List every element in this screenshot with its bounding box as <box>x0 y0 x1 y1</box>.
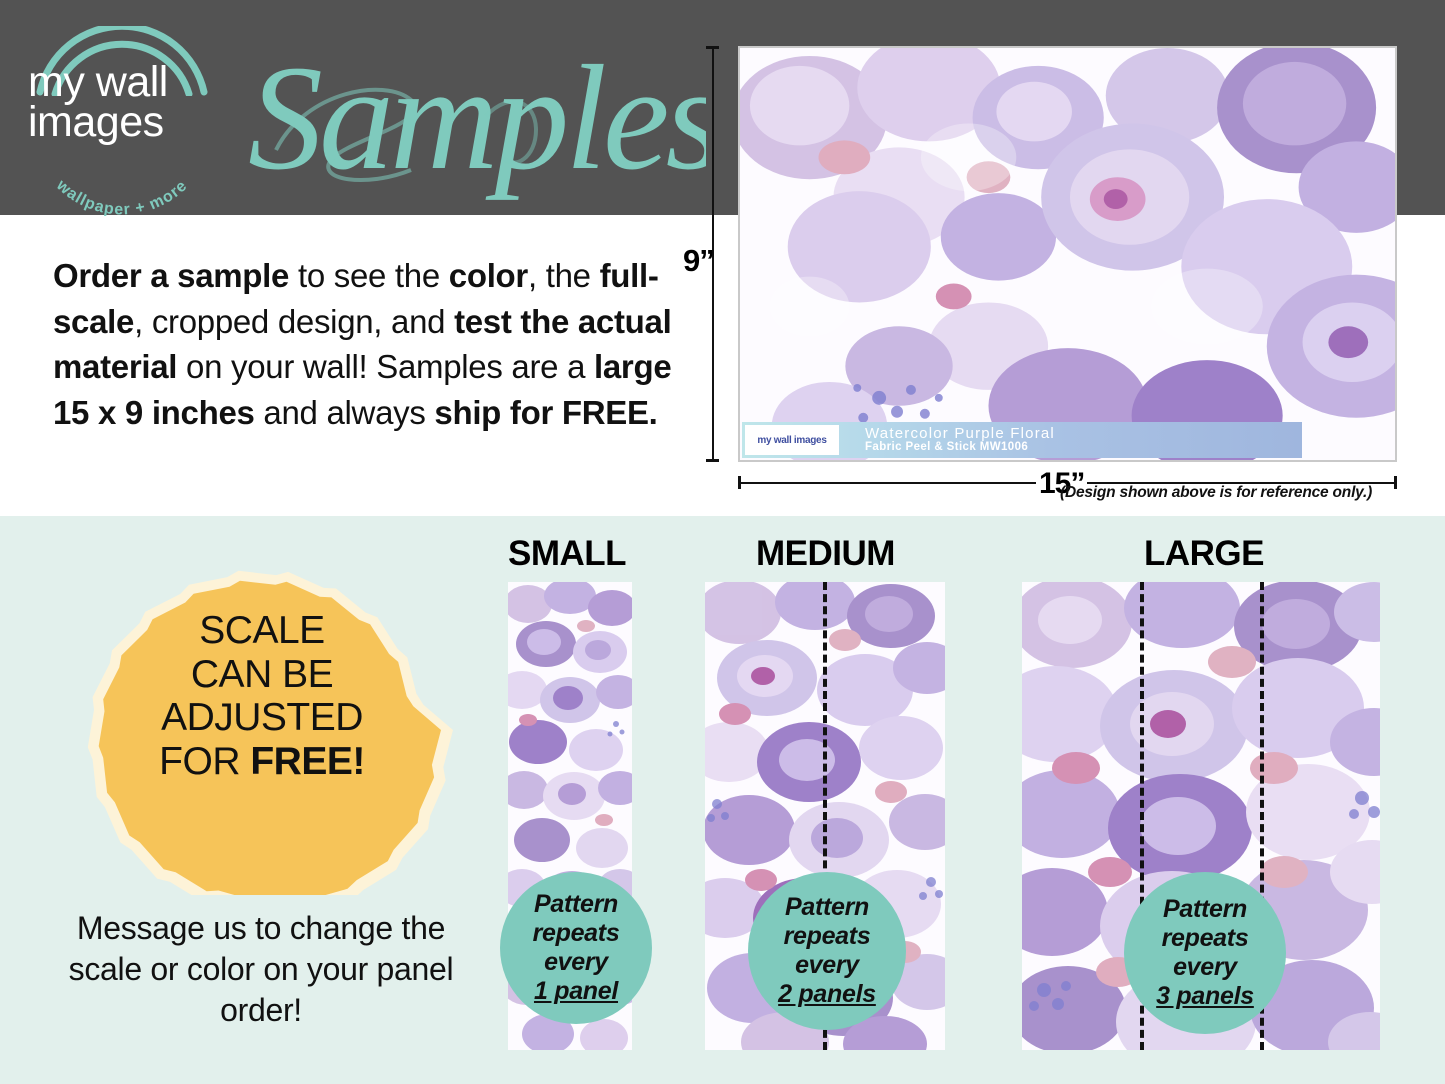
brand-line-2: images <box>28 102 218 142</box>
brand-name: my wall images <box>28 62 218 142</box>
design-name: Watercolor Purple Floral <box>865 426 1302 442</box>
scale-free-badge: SCALECAN BEADJUSTEDFOR FREE! <box>66 565 458 895</box>
scale-title-large: LARGE <box>1144 534 1264 574</box>
label-text-block: Watercolor Purple Floral Fabric Peel & S… <box>839 422 1302 458</box>
repeat-circle-medium: Patternrepeatsevery2 panels <box>748 872 906 1030</box>
height-dimension-label: 9” <box>683 243 714 279</box>
scale-title-medium: MEDIUM <box>756 534 895 574</box>
svg-text:wallpaper + more: wallpaper + more <box>52 176 191 216</box>
design-material-sku: Fabric Peel & Stick MW1006 <box>865 441 1302 454</box>
brand-tagline: wallpaper + more <box>22 146 222 216</box>
sample-design-label: my wall images Watercolor Purple Floral … <box>742 422 1302 458</box>
change-scale-message: Message us to change the scale or color … <box>46 908 476 1031</box>
script-text: Samples <box>248 35 706 201</box>
scale-title-small: SMALL <box>508 534 626 574</box>
label-brand-text: my wall images <box>757 435 826 446</box>
reference-note: (Design shown above is for reference onl… <box>1060 484 1372 502</box>
repeat-circle-text-medium: Patternrepeatsevery2 panels <box>778 893 876 1009</box>
sample-preview-image: my wall images Watercolor Purple Floral … <box>738 46 1397 462</box>
poster-root: my wall images wallpaper + more Samples … <box>0 0 1445 1084</box>
repeat-circle-small: Patternrepeatsevery1 panel <box>500 872 652 1024</box>
sample-description-copy: Order a sample to see the color, the ful… <box>53 253 673 435</box>
repeat-circle-text-large: Patternrepeatsevery3 panels <box>1156 895 1254 1011</box>
badge-text: SCALECAN BEADJUSTEDFOR FREE! <box>66 609 458 784</box>
repeat-circle-large: Patternrepeatsevery3 panels <box>1124 872 1286 1034</box>
brand-logo: my wall images wallpaper + more <box>22 26 222 206</box>
label-brand-logo: my wall images <box>745 425 839 455</box>
samples-script-title: Samples <box>236 30 706 205</box>
repeat-circle-text-small: Patternrepeatsevery1 panel <box>533 890 620 1006</box>
watercolor-floral-art <box>740 48 1395 461</box>
